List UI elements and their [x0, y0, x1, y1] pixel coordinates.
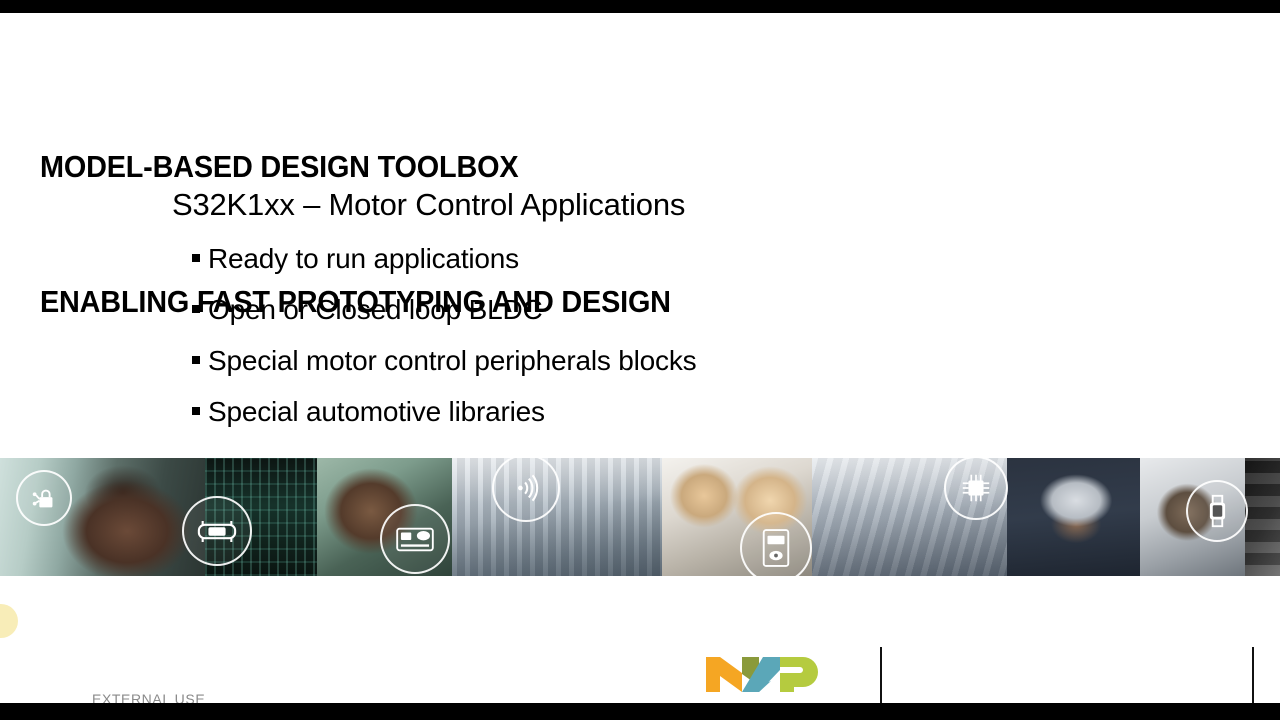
bullet-label: Special motor control peripherals blocks — [208, 336, 696, 387]
decorative-accent-circle — [0, 604, 18, 638]
bullet-item: Special motor control peripherals blocks — [172, 336, 1172, 387]
bullet-label: Open or Closed loop BLDC — [208, 285, 543, 336]
square-bullet-icon — [192, 356, 200, 364]
photo-panel-city-skyline — [452, 458, 662, 576]
bullet-item: Open or Closed loop BLDC — [172, 285, 1172, 336]
square-bullet-icon — [192, 254, 200, 262]
photo-panel-building-signage — [1245, 458, 1280, 576]
tagline: SECURE CONNECTIONS FOR A SMARTER WORLD — [900, 651, 1218, 703]
bullet-item: Ready to run applications — [172, 234, 1172, 285]
letterbox-bottom-bar — [0, 703, 1280, 720]
photo-panel-thinking-man — [1140, 458, 1245, 576]
bullet-label: Special automotive libraries — [208, 387, 545, 438]
slide-root: MODEL-BASED DESIGN TOOLBOX ENABLING FAST… — [0, 0, 1280, 720]
slide-title-line-1: MODEL-BASED DESIGN TOOLBOX — [40, 144, 1063, 189]
logo-divider-left — [880, 647, 882, 703]
square-bullet-icon — [192, 305, 200, 313]
photo-panel-couple-with-phone — [662, 458, 812, 576]
photo-band — [0, 458, 1280, 576]
bullet-item: Special automotive libraries — [172, 387, 1172, 438]
nxp-logo — [705, 651, 835, 698]
slide-body: S32K1xx – Motor Control Applications Rea… — [172, 185, 1172, 437]
bullet-list: Ready to run applications Open or Closed… — [172, 234, 1172, 438]
photo-panel-circuit-board — [205, 458, 317, 576]
photo-panel-man-with-glasses — [0, 458, 205, 576]
bullet-label: Ready to run applications — [208, 234, 519, 285]
logo-divider-right — [1252, 647, 1254, 703]
slide-canvas: MODEL-BASED DESIGN TOOLBOX ENABLING FAST… — [0, 13, 1280, 703]
external-use-label: EXTERNAL USE — [92, 691, 205, 703]
photo-panel-smiling-man — [317, 458, 452, 576]
square-bullet-icon — [192, 407, 200, 415]
body-heading: S32K1xx – Motor Control Applications — [172, 185, 1172, 225]
letterbox-top-bar — [0, 0, 1280, 13]
photo-panel-factory-worker — [1007, 458, 1140, 576]
photo-panel-airport-terminal — [812, 458, 1007, 576]
